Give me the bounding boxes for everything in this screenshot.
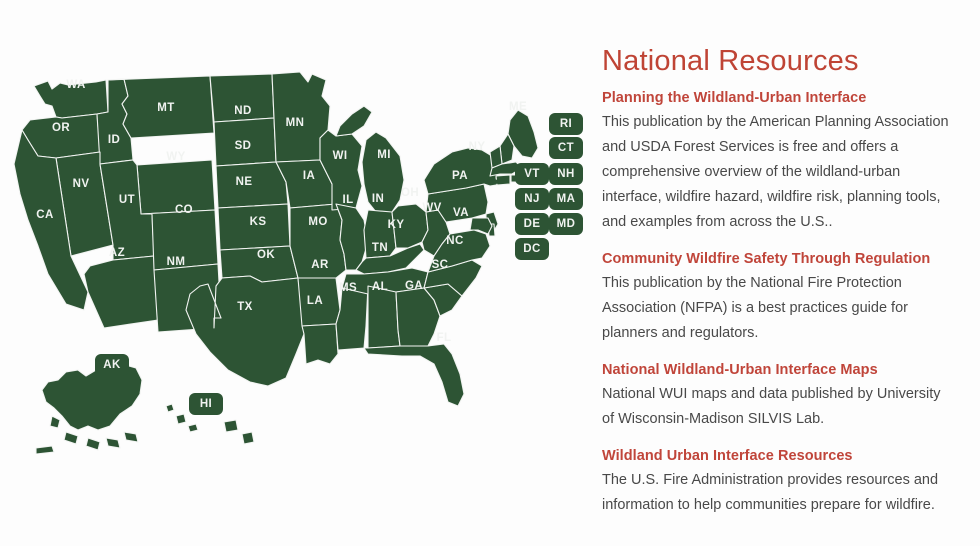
resource-link[interactable]: Community Wildfire Safety Through Regula… [602,249,954,270]
state-box-de[interactable]: DE [515,213,549,235]
resource-item: Planning the Wildland-Urban InterfaceThi… [602,88,954,235]
resource-description: The U.S. Fire Administration provides re… [602,468,954,518]
resource-link[interactable]: National Wildland-Urban Interface Maps [602,360,954,381]
state-box-dc[interactable]: DC [515,238,549,260]
state-shape-ks [218,204,290,250]
resource-item: Community Wildfire Safety Through Regula… [602,249,954,346]
resource-list: Planning the Wildland-Urban InterfaceThi… [602,88,954,518]
state-shape-ok [220,246,298,282]
state-box-nj[interactable]: NJ [515,188,549,210]
state-shape-az [84,256,158,328]
state-box-ma[interactable]: MA [549,188,583,210]
state-box-ak[interactable]: AK [95,354,129,376]
state-shape-ne [216,162,288,208]
state-shape-fl [364,344,464,406]
state-shape-tx [186,276,304,386]
state-box-nh[interactable]: NH [549,163,583,185]
state-shape-nd [210,74,274,122]
state-box-hi[interactable]: HI [189,393,223,415]
state-shape-wy [137,160,215,214]
state-box-ri[interactable]: RI [549,113,583,135]
us-map-panel: WAORIDMTWYNVUTCAAZCONMNDSDNEKSOKTXMNIAMO… [0,0,592,546]
state-shape-ms [336,286,368,350]
state-shape-mo [290,204,346,278]
state-shapes [14,72,538,454]
state-shape-ar [298,278,340,326]
state-box-vt[interactable]: VT [515,163,549,185]
state-shape-la [302,324,338,364]
resource-description: This publication by the National Fire Pr… [602,271,954,346]
state-box-ct[interactable]: CT [549,137,583,159]
page-title: National Resources [602,44,954,78]
page-root: WAORIDMTWYNVUTCAAZCONMNDSDNEKSOKTXMNIAMO… [0,0,980,546]
resource-link[interactable]: Wildland Urban Interface Resources [602,446,954,467]
state-shape-al [368,286,400,348]
state-shape-ak [36,364,142,454]
resource-item: Wildland Urban Interface ResourcesThe U.… [602,446,954,518]
resource-link[interactable]: Planning the Wildland-Urban Interface [602,88,954,109]
resource-item: National Wildland-Urban Interface MapsNa… [602,360,954,432]
state-shape-in [364,210,396,258]
state-shape-wa [34,80,108,118]
us-map-svg[interactable] [0,34,592,454]
national-resources-panel: National Resources Planning the Wildland… [602,44,954,532]
state-box-md[interactable]: MD [549,213,583,235]
state-shape-sd [214,118,276,166]
resource-description: This publication by the American Plannin… [602,110,954,235]
resource-description: National WUI maps and data published by … [602,382,954,432]
